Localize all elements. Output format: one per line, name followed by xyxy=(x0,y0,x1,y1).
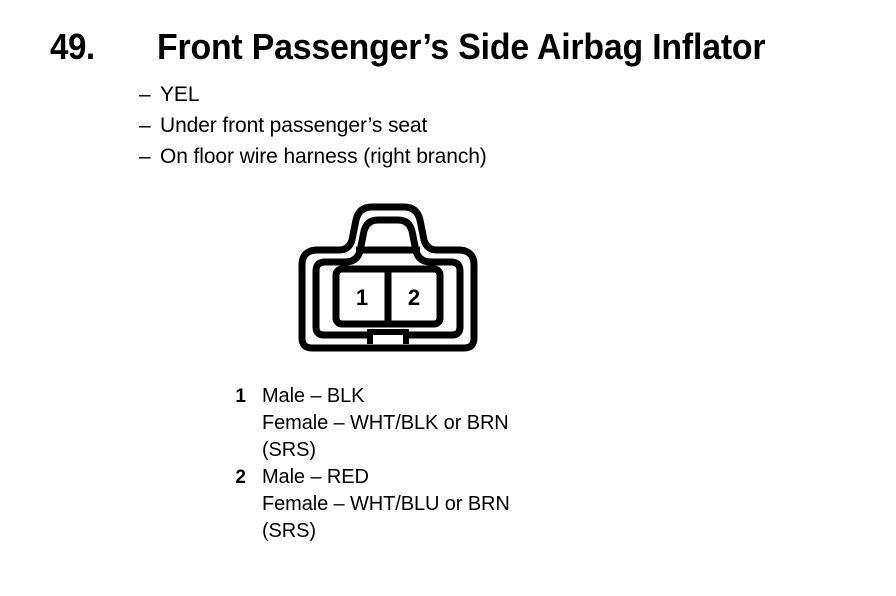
pin-number: 2 xyxy=(228,464,246,491)
item-title: Front Passenger’s Side Airbag Inflator xyxy=(157,26,765,68)
detail-list: – YEL – Under front passenger’s seat – O… xyxy=(139,79,487,172)
dash-icon: – xyxy=(139,110,160,141)
detail-list-item: – On floor wire harness (right branch) xyxy=(139,141,487,172)
pin-description-line: Female – WHT/BLK or BRN xyxy=(262,410,509,437)
detail-list-item: – Under front passenger’s seat xyxy=(139,110,487,141)
page-title: 49. Front Passenger’s Side Airbag Inflat… xyxy=(50,26,804,68)
detail-text: On floor wire harness (right branch) xyxy=(160,141,487,172)
cavity-label-2: 2 xyxy=(408,285,420,310)
pin-description-line: Female – WHT/BLU or BRN xyxy=(262,491,510,518)
connector-bottom-notch xyxy=(370,332,406,344)
dash-icon: – xyxy=(139,79,160,110)
document-page: 49. Front Passenger’s Side Airbag Inflat… xyxy=(0,0,896,596)
connector-diagram: 1 2 xyxy=(296,193,480,356)
detail-list-item: – YEL xyxy=(139,79,487,110)
dash-icon: – xyxy=(139,141,160,172)
item-number: 49. xyxy=(50,26,95,68)
pin-legend-item: 1 Male – BLK Female – WHT/BLK or BRN (SR… xyxy=(228,383,510,464)
detail-text: Under front passenger’s seat xyxy=(160,110,427,141)
detail-text: YEL xyxy=(160,79,199,110)
pin-description-line: (SRS) xyxy=(262,518,510,545)
cavity-label-1: 1 xyxy=(356,285,368,310)
pin-legend: 1 Male – BLK Female – WHT/BLK or BRN (SR… xyxy=(228,383,510,545)
pin-description: Male – BLK Female – WHT/BLK or BRN (SRS) xyxy=(262,383,509,464)
pin-description-line: Male – BLK xyxy=(262,383,509,410)
pin-number: 1 xyxy=(228,383,246,410)
pin-description-line: Male – RED xyxy=(262,464,510,491)
pin-description-line: (SRS) xyxy=(262,437,509,464)
pin-legend-item: 2 Male – RED Female – WHT/BLU or BRN (SR… xyxy=(228,464,510,545)
pin-description: Male – RED Female – WHT/BLU or BRN (SRS) xyxy=(262,464,510,545)
